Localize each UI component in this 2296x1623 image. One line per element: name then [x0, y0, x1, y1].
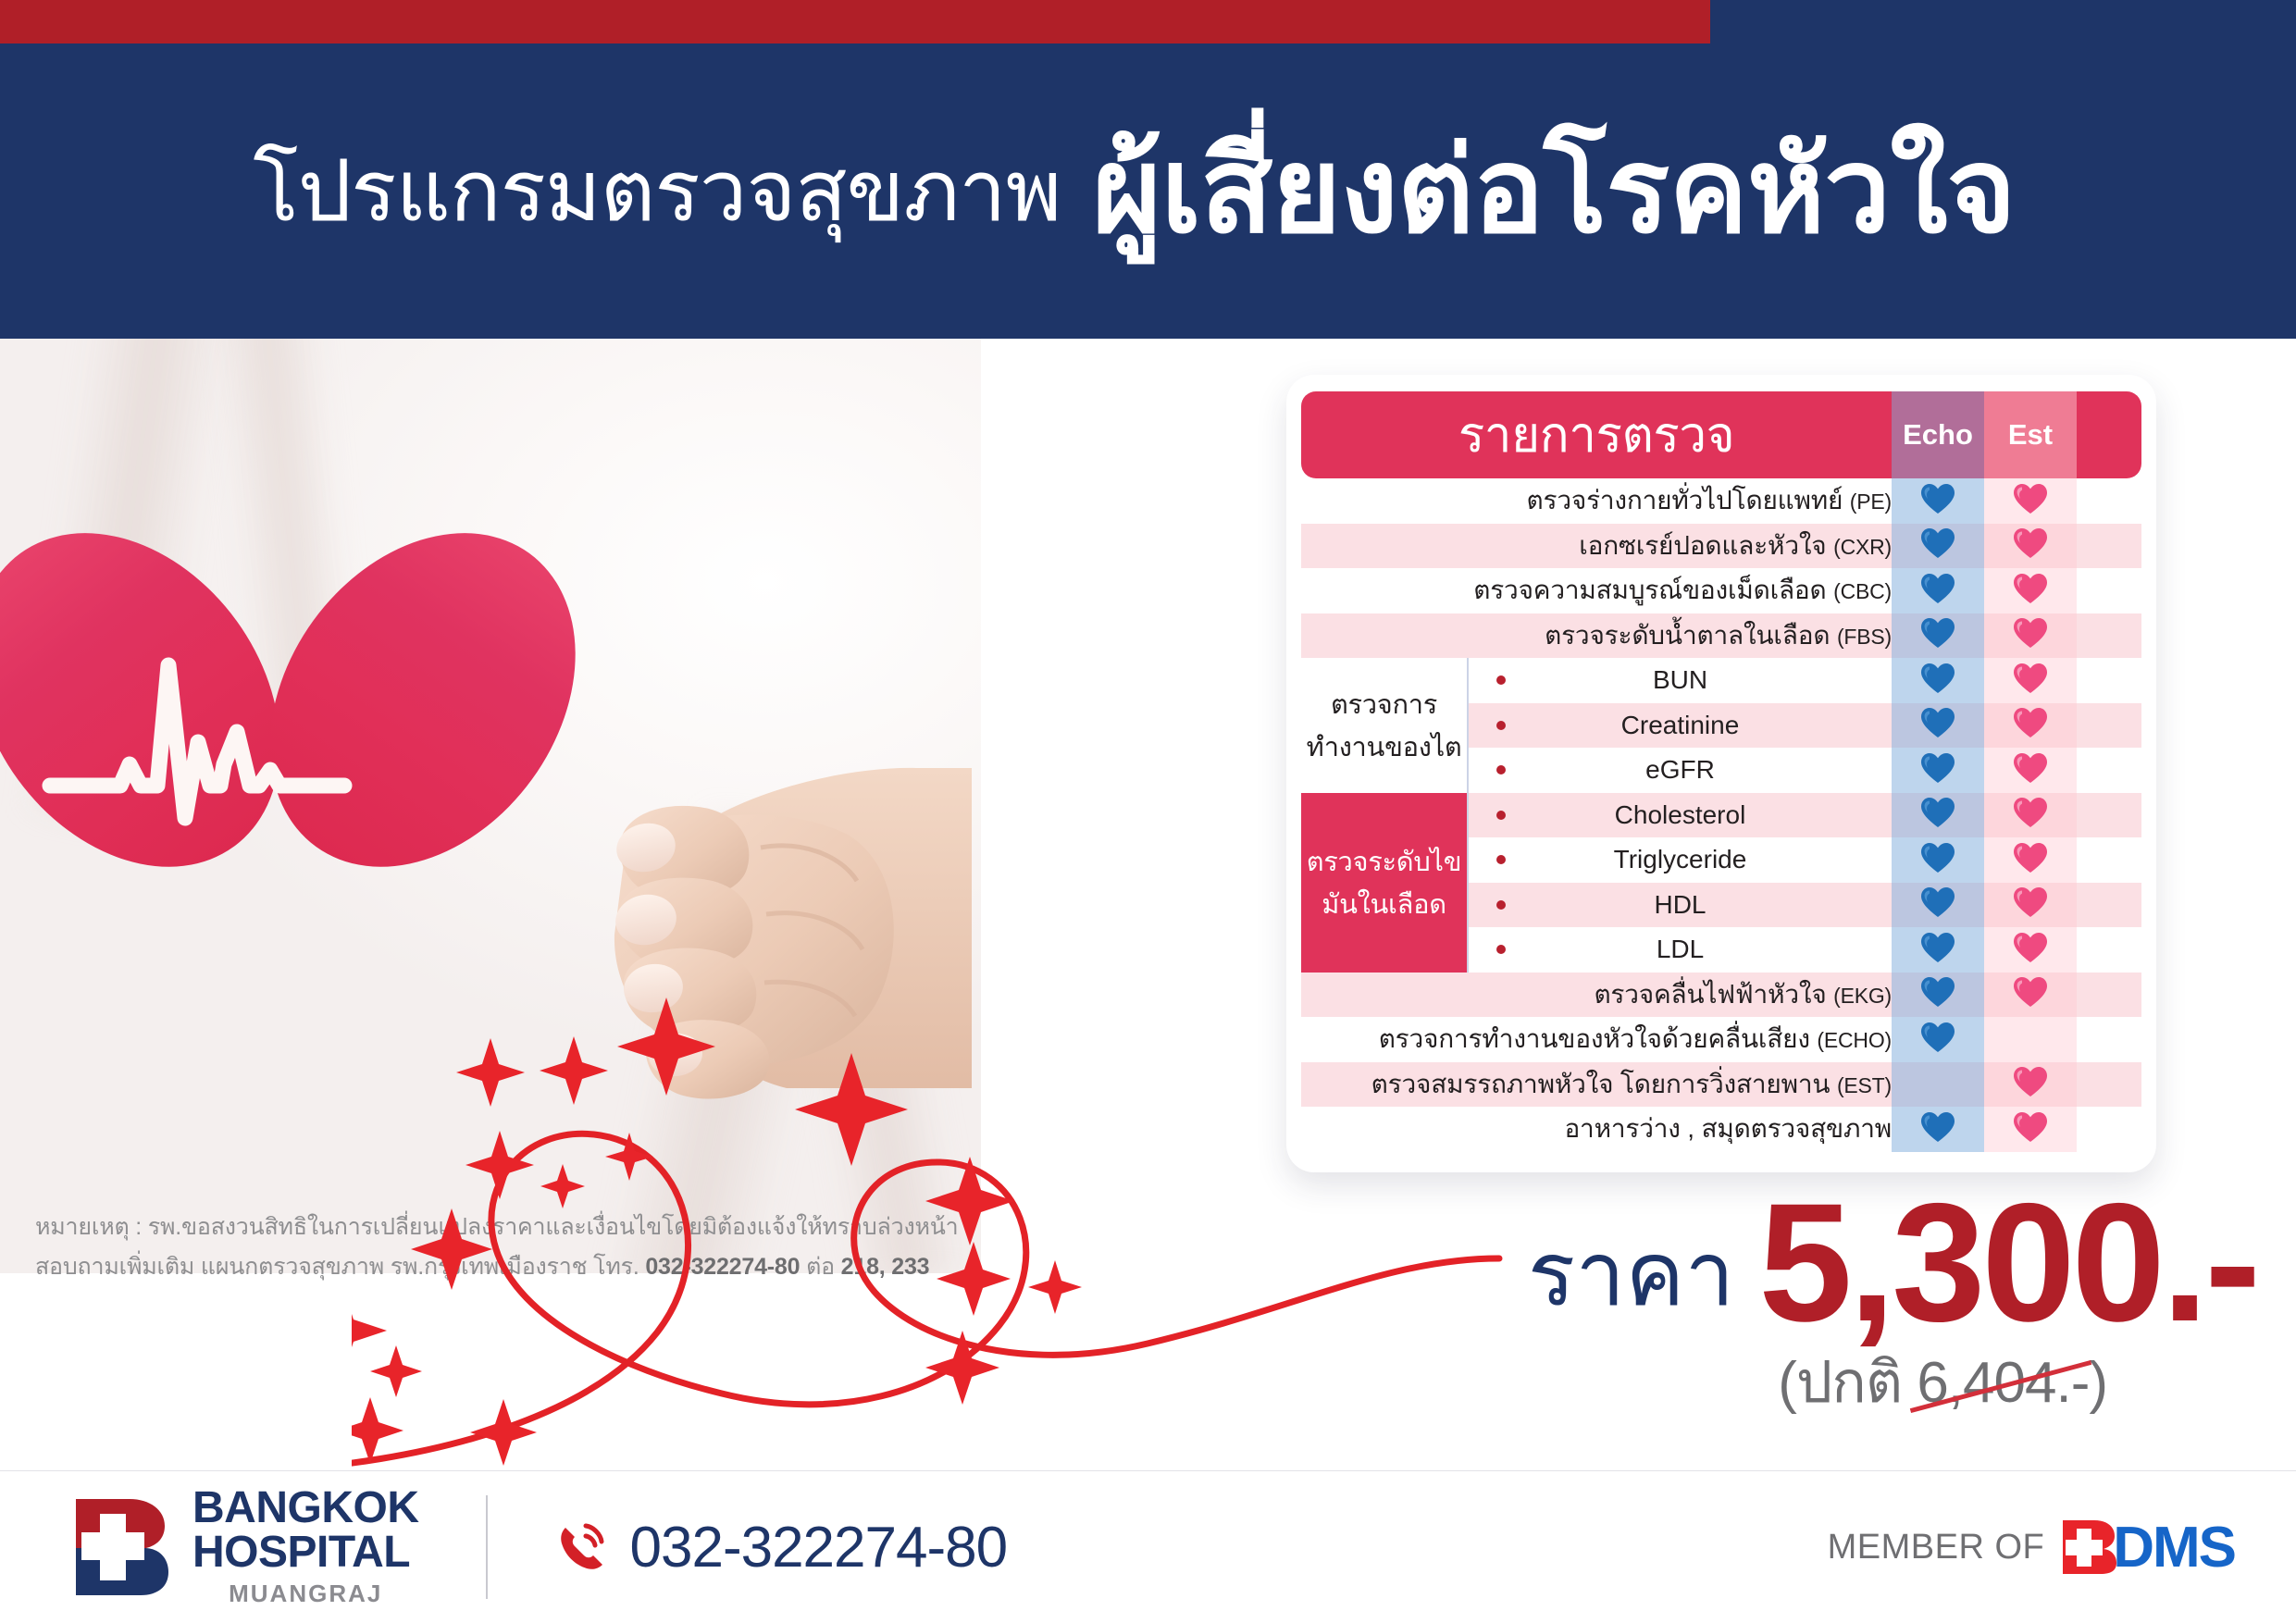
pink-heart-icon — [2013, 752, 2048, 784]
pink-heart-icon — [2013, 483, 2048, 514]
echo-cell — [1892, 703, 1984, 749]
table-row: ตรวจระดับไขมันในเลือดCholesterol — [1301, 793, 2141, 838]
blue-heart-icon — [1920, 483, 1955, 514]
exam-name: เอกซเรย์ปอดและหัวใจ (CXR) — [1301, 524, 1892, 569]
echo-cell — [1892, 658, 1984, 703]
pink-heart-icon — [2013, 617, 2048, 649]
blue-heart-icon — [1920, 1022, 1955, 1053]
logo-line-2: HOSPITAL — [192, 1530, 419, 1574]
pink-heart-icon — [2013, 707, 2048, 738]
footer-phone[interactable]: 032-322274-80 — [552, 1515, 1008, 1580]
blue-heart-icon — [1920, 932, 1955, 963]
blue-heart-icon — [1920, 797, 1955, 828]
pink-heart-icon — [2013, 886, 2048, 918]
est-cell — [1984, 568, 2077, 613]
pink-heart-icon — [2013, 797, 2048, 828]
echo-cell — [1892, 883, 1984, 928]
bullet-icon — [1496, 721, 1506, 730]
pad-cell — [2077, 883, 2141, 928]
header-echo: Echo — [1892, 391, 1984, 478]
pad-cell — [2077, 1062, 2141, 1108]
exam-subitem: BUN — [1468, 658, 1892, 703]
pad-cell — [2077, 658, 2141, 703]
price-row: ราคา 5,300.- — [1528, 1194, 2257, 1332]
blue-heart-icon — [1920, 842, 1955, 873]
exam-group-label-kidney: ตรวจการทำงานของไต — [1301, 658, 1468, 793]
price-normal-suffix: ) — [2089, 1351, 2107, 1415]
pad-cell — [2077, 927, 2141, 973]
hospital-logo-text: BANGKOK HOSPITAL MUANGRAJ — [192, 1486, 419, 1607]
echo-cell — [1892, 613, 1984, 659]
price-normal-value: 6,404.- — [1917, 1350, 2089, 1416]
hospital-b-cross-icon — [72, 1495, 172, 1599]
echo-cell — [1892, 793, 1984, 838]
est-cell — [1984, 973, 2077, 1018]
est-cell — [1984, 1062, 2077, 1108]
echo-cell — [1892, 1062, 1984, 1108]
echo-cell — [1892, 927, 1984, 973]
echo-cell — [1892, 837, 1984, 883]
blue-heart-icon — [1920, 1111, 1955, 1143]
blue-heart-icon — [1920, 707, 1955, 738]
echo-cell — [1892, 1107, 1984, 1152]
table-row: ตรวจการทำงานของไตBUN — [1301, 658, 2141, 703]
est-cell — [1984, 927, 2077, 973]
pad-cell — [2077, 837, 2141, 883]
header-echo-label: Echo — [1903, 418, 1973, 451]
logo-line-1: BANGKOK — [192, 1486, 419, 1530]
exam-subitem: eGFR — [1468, 748, 1892, 793]
pad-cell — [2077, 1017, 2141, 1062]
echo-cell — [1892, 524, 1984, 569]
pad-cell — [2077, 568, 2141, 613]
blue-heart-icon — [1920, 663, 1955, 694]
blue-heart-icon — [1920, 573, 1955, 604]
pink-heart-icon — [2013, 932, 2048, 963]
title-lead: โปรแกรมตรวจสุขภาพ — [253, 149, 1061, 234]
blue-heart-icon — [1920, 976, 1955, 1008]
exam-subitem: Cholesterol — [1468, 793, 1892, 838]
exam-subitem: LDL — [1468, 927, 1892, 973]
pink-heart-icon — [2013, 1111, 2048, 1143]
table-row: เอกซเรย์ปอดและหัวใจ (CXR) — [1301, 524, 2141, 569]
blue-heart-icon — [1920, 527, 1955, 559]
bullet-icon — [1496, 765, 1506, 774]
header-pad — [2077, 391, 2141, 478]
pad-cell — [2077, 524, 2141, 569]
blue-heart-icon — [1920, 617, 1955, 649]
header-est-label: Est — [2008, 418, 2053, 451]
exam-name: ตรวจระดับน้ำตาลในเลือด (FBS) — [1301, 613, 1892, 659]
blue-heart-icon — [1920, 752, 1955, 784]
pad-cell — [2077, 703, 2141, 749]
header-title: โปรแกรมตรวจสุขภาพ ผู้เสี่ยงต่อโรคหัวใจ — [0, 43, 2296, 339]
table-header-row: รายการตรวจ Echo Est — [1301, 391, 2141, 478]
exam-subitem: HDL — [1468, 883, 1892, 928]
header-band: โปรแกรมตรวจสุขภาพ ผู้เสี่ยงต่อโรคหัวใจ — [0, 0, 2296, 339]
exam-name: ตรวจร่างกายทั่วไปโดยแพทย์ (PE) — [1301, 478, 1892, 524]
echo-cell — [1892, 973, 1984, 1018]
est-cell — [1984, 613, 2077, 659]
est-cell — [1984, 1107, 2077, 1152]
echo-cell — [1892, 748, 1984, 793]
header-items: รายการตรวจ — [1301, 391, 1892, 478]
exam-name: ตรวจความสมบูรณ์ของเม็ดเลือด (CBC) — [1301, 568, 1892, 613]
est-cell — [1984, 524, 2077, 569]
est-cell — [1984, 703, 2077, 749]
est-cell — [1984, 837, 2077, 883]
pad-cell — [2077, 748, 2141, 793]
bullet-icon — [1496, 945, 1506, 954]
pink-heart-icon — [2013, 842, 2048, 873]
price-value: 5,300.- — [1758, 1194, 2257, 1332]
header-est: Est — [1984, 391, 2077, 478]
price-label: ราคา — [1528, 1233, 1735, 1332]
table-row: ตรวจระดับน้ำตาลในเลือด (FBS) — [1301, 613, 2141, 659]
price-block: ราคา 5,300.- (ปกติ 6,404.-) — [1528, 1194, 2257, 1428]
exam-subitem: Creatinine — [1468, 703, 1892, 749]
bdms-b-cross-icon — [2061, 1518, 2118, 1576]
bullet-icon — [1496, 811, 1506, 820]
est-cell — [1984, 883, 2077, 928]
table-row: ตรวจความสมบูรณ์ของเม็ดเลือด (CBC) — [1301, 568, 2141, 613]
est-cell — [1984, 478, 2077, 524]
pad-cell — [2077, 613, 2141, 659]
pad-cell — [2077, 478, 2141, 524]
pad-cell — [2077, 1107, 2141, 1152]
echo-cell — [1892, 568, 1984, 613]
pad-cell — [2077, 973, 2141, 1018]
bangkok-hospital-logo: BANGKOK HOSPITAL MUANGRAJ — [72, 1486, 419, 1607]
est-cell — [1984, 748, 2077, 793]
bullet-icon — [1496, 900, 1506, 910]
est-cell — [1984, 793, 2077, 838]
pink-heart-icon — [2013, 976, 2048, 1008]
echo-cell — [1892, 1017, 1984, 1062]
phone-icon — [552, 1518, 610, 1576]
pink-heart-icon — [2013, 527, 2048, 559]
footer: BANGKOK HOSPITAL MUANGRAJ 032-322274-80 … — [0, 1470, 2296, 1623]
echo-cell — [1892, 478, 1984, 524]
header-accent-bar — [0, 0, 1710, 43]
exam-group-label-lipid: ตรวจระดับไขมันในเลือด — [1301, 793, 1468, 973]
price-normal: (ปกติ 6,404.-) — [1778, 1337, 2107, 1428]
pad-cell — [2077, 793, 2141, 838]
bdms-logo: DMS — [2061, 1515, 2235, 1580]
member-of-bdms: MEMBER OF DMS — [1828, 1515, 2235, 1580]
table-row: ตรวจร่างกายทั่วไปโดยแพทย์ (PE) — [1301, 478, 2141, 524]
footer-phone-number: 032-322274-80 — [630, 1515, 1008, 1580]
blue-heart-icon — [1920, 886, 1955, 918]
logo-line-3: MUANGRAJ — [192, 1580, 419, 1608]
est-cell — [1984, 1017, 2077, 1062]
price-normal-prefix: (ปกติ — [1778, 1351, 1917, 1415]
bdms-text: DMS — [2113, 1515, 2235, 1580]
pink-heart-icon — [2013, 573, 2048, 604]
exam-subitem: Triglyceride — [1468, 837, 1892, 883]
pink-heart-icon — [2013, 663, 2048, 694]
pink-heart-icon — [2013, 1066, 2048, 1097]
bullet-icon — [1496, 675, 1506, 685]
member-of-label: MEMBER OF — [1828, 1528, 2045, 1567]
bullet-icon — [1496, 855, 1506, 864]
decorative-hearts-sparkles — [352, 981, 1647, 1499]
footer-divider — [486, 1495, 488, 1599]
title-main: ผู้เสี่ยงต่อโรคหัวใจ — [1092, 132, 2015, 251]
est-cell — [1984, 658, 2077, 703]
